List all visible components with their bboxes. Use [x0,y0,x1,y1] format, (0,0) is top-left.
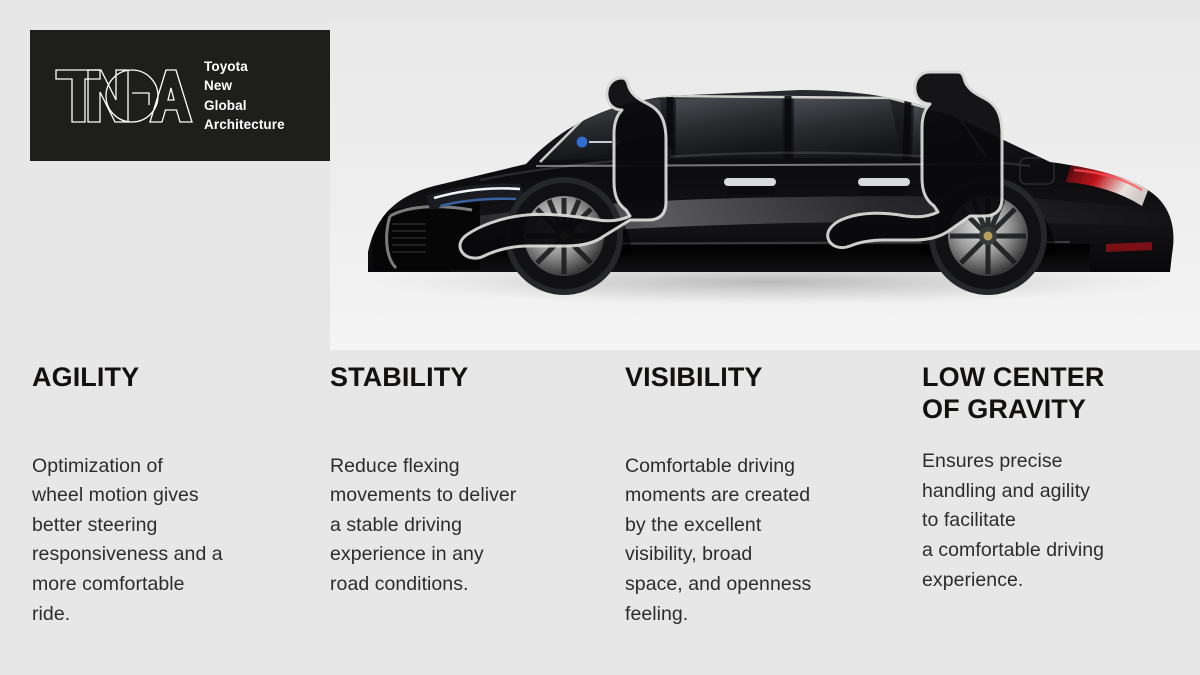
car-illustration [330,20,1200,350]
hero-car-photo [330,20,1200,350]
pillar-title-stability: STABILITY [330,362,616,394]
wordmark-line-global: Global [204,96,285,115]
wordmark-line-new: New [204,76,285,95]
pillar-low-center-of-gravity: LOW CENTER OF GRAVITY Ensures precise ha… [922,362,1184,595]
pillar-body-stability: Reduce flexing movements to deliver a st… [330,394,616,600]
pillar-stability: STABILITY Reduce flexing movements to de… [330,362,616,600]
pillar-agility: AGILITY Optimization of wheel motion giv… [32,362,318,629]
wordmark-line-architecture: Architecture [204,115,285,134]
logo-wordmark-text: Toyota New Global Architecture [204,57,285,134]
tnga-logo-block: Toyota New Global Architecture [30,30,348,161]
pillar-body-agility: Optimization of wheel motion gives bette… [32,394,318,630]
pillar-title-agility: AGILITY [32,362,318,394]
wordmark-line-toyota: Toyota [204,57,285,76]
pillar-columns: AGILITY Optimization of wheel motion giv… [0,362,1200,675]
pillar-body-low-center-of-gravity: Ensures precise handling and agility to … [922,425,1184,595]
pillar-visibility: VISIBILITY Comfortable driving moments a… [625,362,911,629]
pillar-title-visibility: VISIBILITY [625,362,911,394]
tnga-wordmark-icon [54,60,194,132]
pillar-body-visibility: Comfortable driving moments are created … [625,394,911,630]
pillar-title-low-center-of-gravity: LOW CENTER OF GRAVITY [922,362,1184,425]
